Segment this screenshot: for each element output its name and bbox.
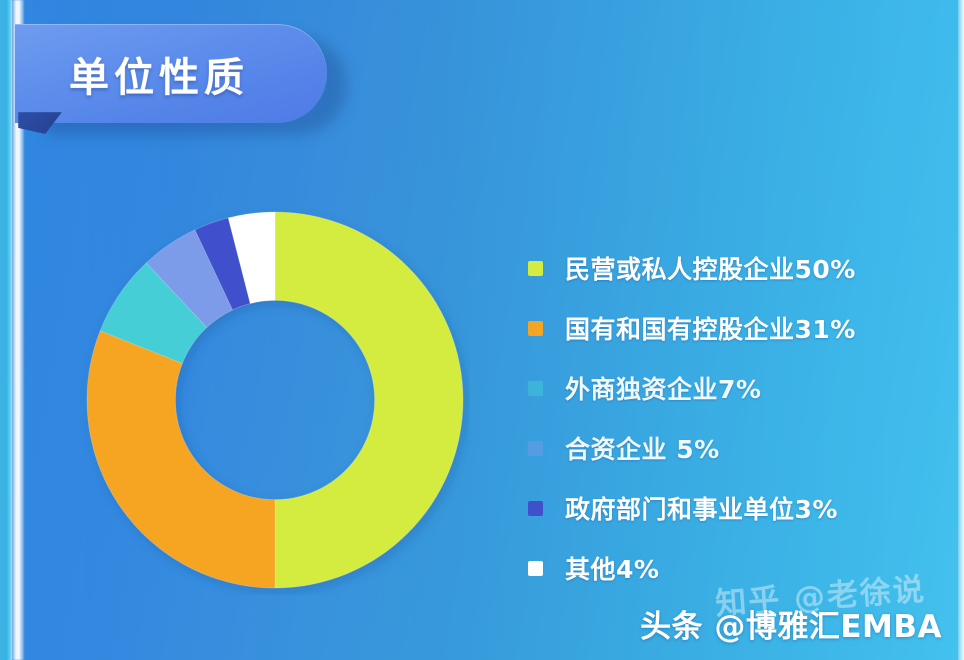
donut-slice-group [87, 212, 463, 588]
donut-slice[interactable] [275, 212, 463, 588]
legend-item-label: 政府部门和事业单位3% [565, 490, 838, 526]
title-banner: 单位性质 [15, 24, 327, 123]
legend-item[interactable]: 合资企业 5% [528, 418, 938, 478]
legend-swatch-joint-venture [528, 441, 543, 456]
legend-swatch-foreign [528, 381, 543, 396]
watermark-toutiao: 头条 @博雅汇EMBA [640, 601, 942, 646]
page-title: 单位性质 [69, 45, 249, 103]
banner-pill: 单位性质 [15, 24, 327, 123]
right-edge-strip [958, 0, 964, 660]
donut-chart-svg [80, 205, 470, 595]
legend-item-label: 民营或私人控股企业50% [565, 250, 856, 286]
chart-legend: 民营或私人控股企业50%国有和国有控股企业31%外商独资企业7%合资企业 5%政… [528, 238, 938, 598]
donut-slice[interactable] [87, 331, 275, 588]
donut-chart [80, 205, 470, 595]
legend-item-label: 其他4% [565, 550, 659, 586]
legend-swatch-government [528, 501, 543, 516]
slide-canvas: 单位性质 民营或私人控股企业50%国有和国有控股企业31%外商独资企业7%合资企… [0, 0, 964, 660]
legend-swatch-other [528, 561, 543, 576]
legend-swatch-private [528, 261, 543, 276]
legend-item[interactable]: 外商独资企业7% [528, 358, 938, 418]
legend-swatch-state-owned [528, 321, 543, 336]
legend-item[interactable]: 民营或私人控股企业50% [528, 238, 938, 298]
legend-item[interactable]: 国有和国有控股企业31% [528, 298, 938, 358]
legend-item-label: 合资企业 5% [565, 430, 720, 466]
legend-item-label: 国有和国有控股企业31% [565, 310, 856, 346]
legend-item[interactable]: 政府部门和事业单位3% [528, 478, 938, 538]
legend-item-label: 外商独资企业7% [565, 370, 761, 406]
